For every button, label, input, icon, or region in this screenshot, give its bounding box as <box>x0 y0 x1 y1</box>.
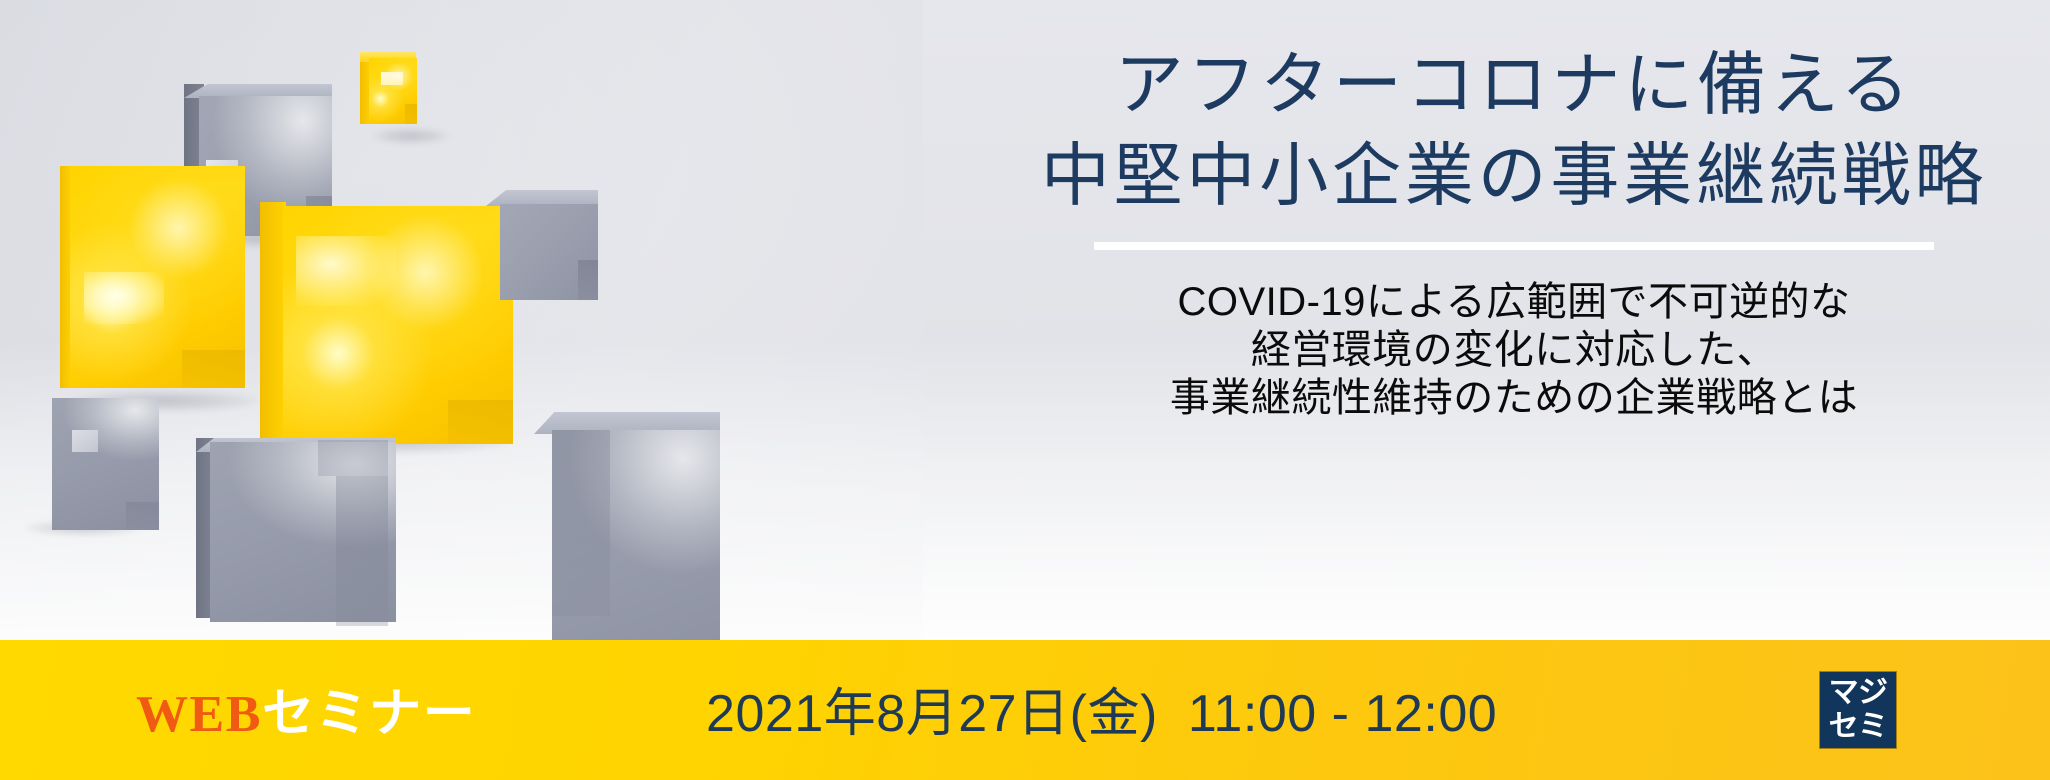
logo-line-2: セミ <box>1829 710 1888 744</box>
seminar-label: セミナー <box>262 686 476 743</box>
event-date: 2021年8月27日(金) <box>706 685 1158 743</box>
seminar-banner: アフターコロナに備える 中堅中小企業の事業継続戦略 COVID-19による広範囲… <box>0 0 2050 780</box>
footer-band: WEBセミナー 2021年8月27日(金)11:00 - 12:00 マジ セミ <box>0 640 2050 780</box>
event-datetime: 2021年8月27日(金)11:00 - 12:00 <box>706 671 1497 746</box>
cube-illustration <box>0 0 720 645</box>
majiseminar-logo[interactable]: マジ セミ <box>1820 672 1896 748</box>
subtitle-block: COVID-19による広範囲で不可逆的な 経営環境の変化に対応した、 事業継続性… <box>1034 278 1994 422</box>
web-seminar-label: WEBセミナー <box>136 671 476 746</box>
banner-text-block: アフターコロナに備える 中堅中小企業の事業継続戦略 COVID-19による広範囲… <box>1034 42 1994 422</box>
subtitle-line-1: COVID-19による広範囲で不可逆的な <box>1034 278 1994 326</box>
title-divider-rule <box>1094 242 1934 250</box>
logo-line-1: マジ <box>1829 676 1888 710</box>
subtitle-line-3: 事業継続性維持のための企業戦略とは <box>1034 374 1994 422</box>
title-line-1: アフターコロナに備える <box>1034 42 1994 128</box>
title-line-2: 中堅中小企業の事業継続戦略 <box>1034 132 1994 220</box>
web-label: WEB <box>136 686 262 743</box>
cube-shadow <box>372 128 450 144</box>
event-time: 11:00 - 12:00 <box>1188 685 1497 743</box>
subtitle-line-2: 経営環境の変化に対応した、 <box>1034 326 1994 374</box>
